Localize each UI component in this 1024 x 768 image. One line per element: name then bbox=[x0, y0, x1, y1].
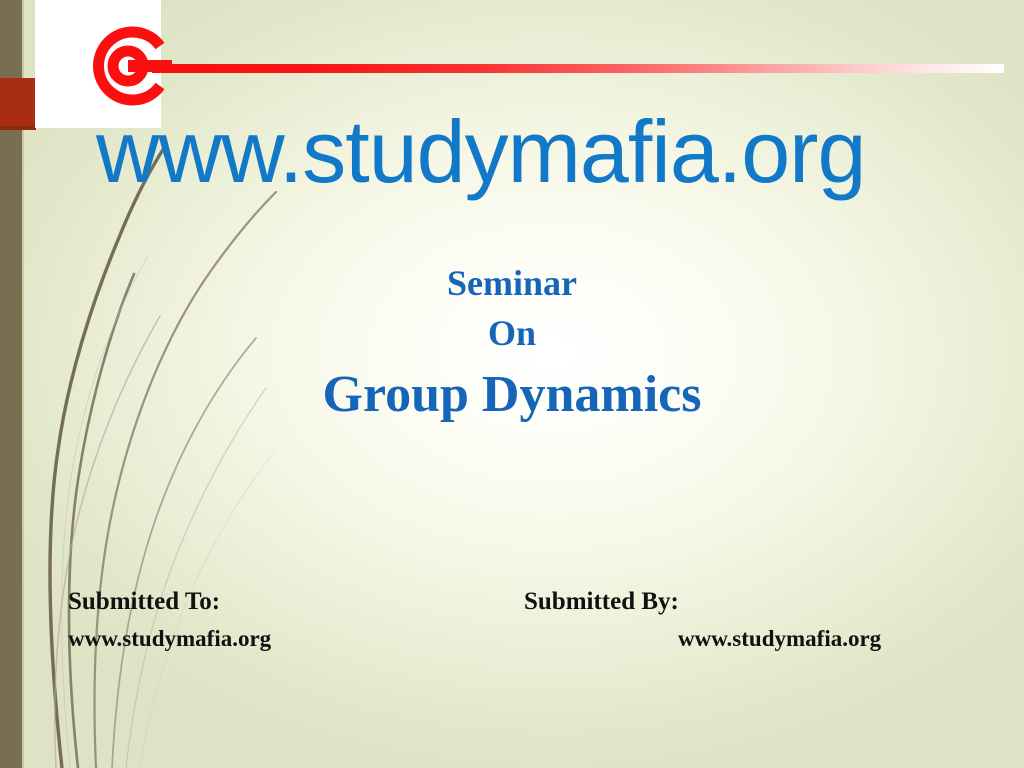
submitted-to-group: Submitted To: www.studymafia.org bbox=[68, 586, 271, 654]
submitted-by-group: Submitted By: www.studymafia.org bbox=[524, 586, 881, 654]
site-title: www.studymafia.org bbox=[96, 108, 996, 196]
seminar-heading-block: Seminar On Group Dynamics bbox=[0, 258, 1024, 428]
submitted-by-value: www.studymafia.org bbox=[678, 624, 881, 654]
seminar-on-label: On bbox=[0, 308, 1024, 358]
submitted-by-label: Submitted By: bbox=[524, 586, 881, 618]
submitted-to-value: www.studymafia.org bbox=[68, 624, 271, 654]
seminar-topic-title: Group Dynamics bbox=[0, 362, 1024, 428]
seminar-label: Seminar bbox=[0, 258, 1024, 308]
red-accent-underline bbox=[0, 126, 36, 130]
grass-reed-decoration bbox=[0, 120, 300, 768]
red-gradient-rule bbox=[152, 64, 1004, 73]
submitted-to-label: Submitted To: bbox=[68, 586, 271, 618]
title-slide: www.studymafia.org Seminar On Group Dyna… bbox=[0, 0, 1024, 768]
red-accent-block bbox=[0, 78, 36, 126]
